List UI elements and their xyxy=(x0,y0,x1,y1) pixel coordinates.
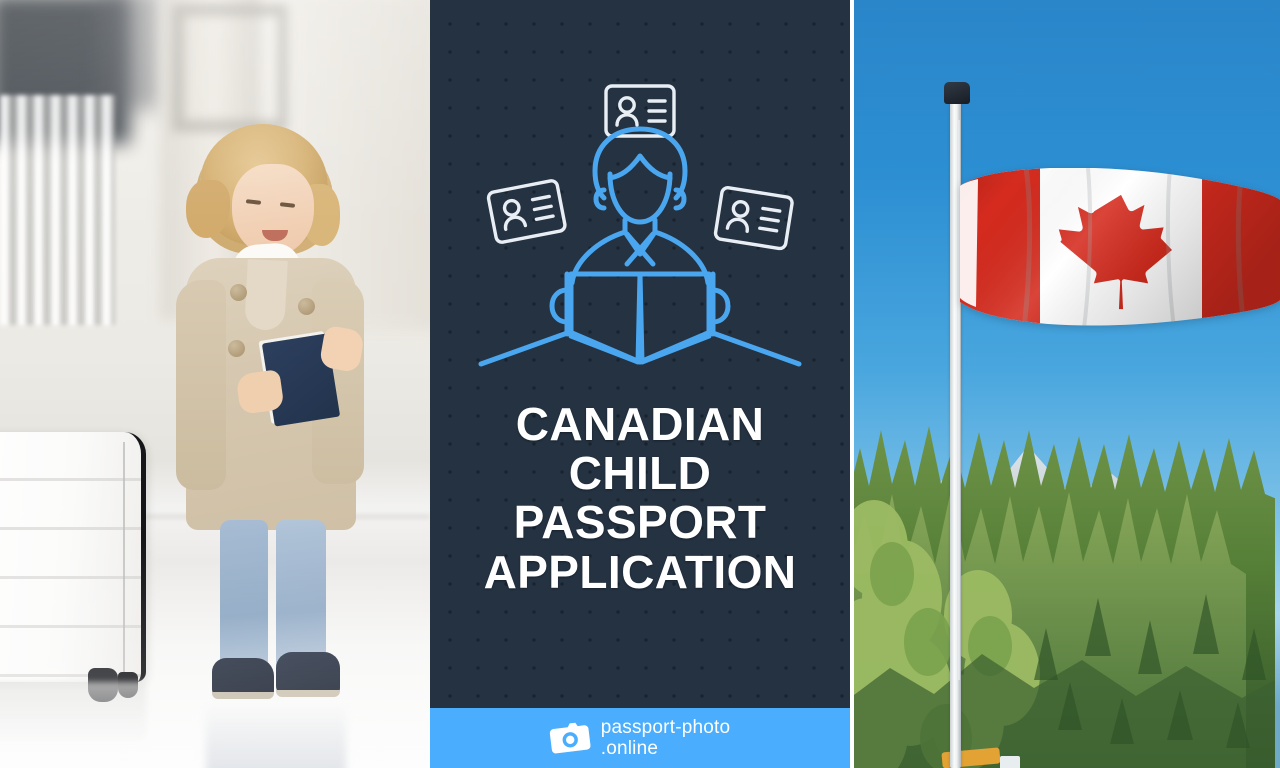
brand-name-line-2: .online xyxy=(601,738,731,759)
coat-button-1 xyxy=(230,284,247,301)
left-photo-child-with-passport xyxy=(0,0,430,768)
page-title: CANADIAN CHILD PASSPORT APPLICATION xyxy=(472,400,809,597)
terminal-railing xyxy=(0,95,115,325)
coat-lapel xyxy=(244,259,288,331)
conifer-forest xyxy=(850,298,1275,768)
flag-hoist-edge xyxy=(960,179,978,307)
terminal-window-light xyxy=(100,0,160,110)
right-photo-canadian-flag xyxy=(850,0,1280,768)
title-line-4: APPLICATION xyxy=(484,548,797,597)
camera-icon xyxy=(548,720,592,757)
brand-name-line-1: passport-photo xyxy=(601,717,731,738)
brand-name: passport-photo .online xyxy=(601,717,731,760)
suitcase-reflection xyxy=(0,682,146,748)
person-figure xyxy=(572,129,708,283)
child-figure xyxy=(176,72,366,672)
center-panel-content: CANADIAN CHILD PASSPORT APPLICATION xyxy=(430,0,850,708)
center-title-panel: CANADIAN CHILD PASSPORT APPLICATION pass… xyxy=(430,0,850,768)
open-book xyxy=(552,274,728,362)
id-card-left-icon xyxy=(487,180,565,243)
coat-button-3 xyxy=(298,298,315,315)
title-line-3: PASSPORT xyxy=(484,498,797,547)
child-leg-left xyxy=(220,520,268,678)
child-hand-left xyxy=(235,369,284,415)
shoe-sole-right xyxy=(276,690,340,697)
title-line-1: CANADIAN xyxy=(484,400,797,449)
canadian-flag xyxy=(956,168,1280,328)
suitcase-ridges xyxy=(0,432,141,682)
coat-button-2 xyxy=(228,340,245,357)
flagpole-finial xyxy=(944,82,970,104)
promo-banner: CANADIAN CHILD PASSPORT APPLICATION pass… xyxy=(0,0,1280,768)
title-line-2: CHILD xyxy=(484,449,797,498)
person-reading-passport-illustration xyxy=(475,78,805,378)
brand-footer-bar[interactable]: passport-photo .online xyxy=(430,708,850,768)
shoe-sole-left xyxy=(212,692,274,699)
child-floor-reflection xyxy=(206,704,346,768)
child-face xyxy=(232,164,314,256)
suitcase xyxy=(0,432,146,682)
child-leg-right xyxy=(276,520,326,672)
coat-sleeve-left xyxy=(176,280,226,490)
id-card-right-icon xyxy=(715,187,793,249)
panel-divider xyxy=(850,0,854,768)
